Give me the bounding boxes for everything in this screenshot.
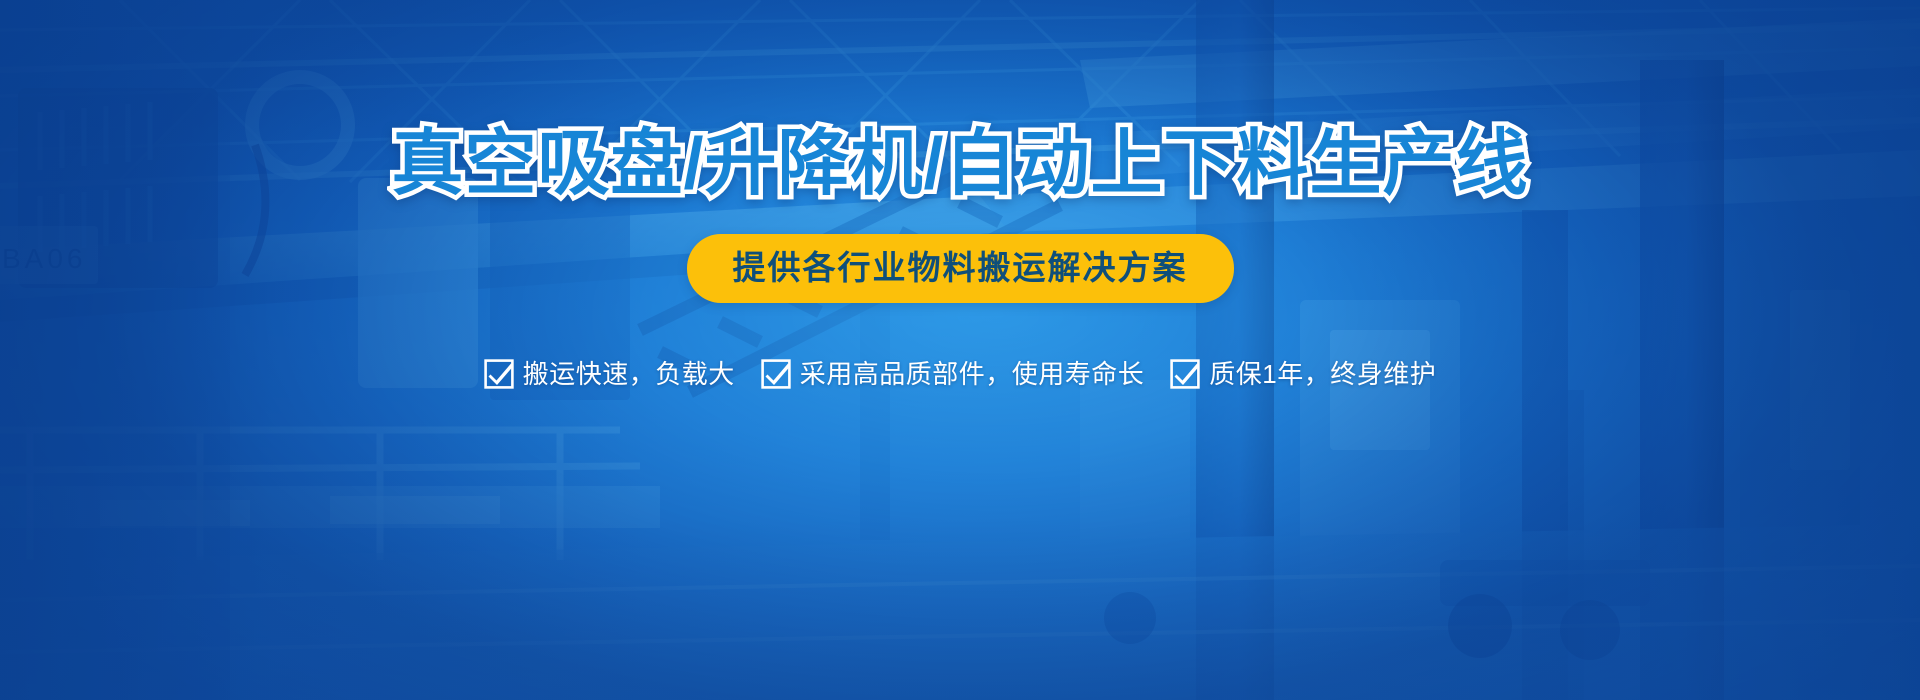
feature-item: 采用高品质部件，使用寿命长 <box>761 359 1145 389</box>
banner-content: 真空吸盘/升降机/自动上下料生产线 提供各行业物料搬运解决方案 搬运快速，负载大 <box>0 0 1920 700</box>
feature-list: 搬运快速，负载大 采用高品质部件，使用寿命长 <box>484 359 1437 389</box>
checkbox-check-icon <box>761 359 791 389</box>
feature-label: 质保1年，终身维护 <box>1209 361 1436 387</box>
feature-item: 质保1年，终身维护 <box>1170 359 1436 389</box>
feature-item: 搬运快速，负载大 <box>484 359 735 389</box>
banner-subtitle-badge: 提供各行业物料搬运解决方案 <box>687 234 1234 303</box>
checkbox-check-icon <box>484 359 514 389</box>
hero-banner: BA06 真空吸盘/升降机/自动上下料生产线 提供各行业物料搬运解决方案 <box>0 0 1920 700</box>
checkbox-check-icon <box>1170 359 1200 389</box>
feature-label: 采用高品质部件，使用寿命长 <box>800 361 1145 387</box>
banner-headline: 真空吸盘/升降机/自动上下料生产线 <box>391 128 1528 200</box>
feature-label: 搬运快速，负载大 <box>523 361 735 387</box>
